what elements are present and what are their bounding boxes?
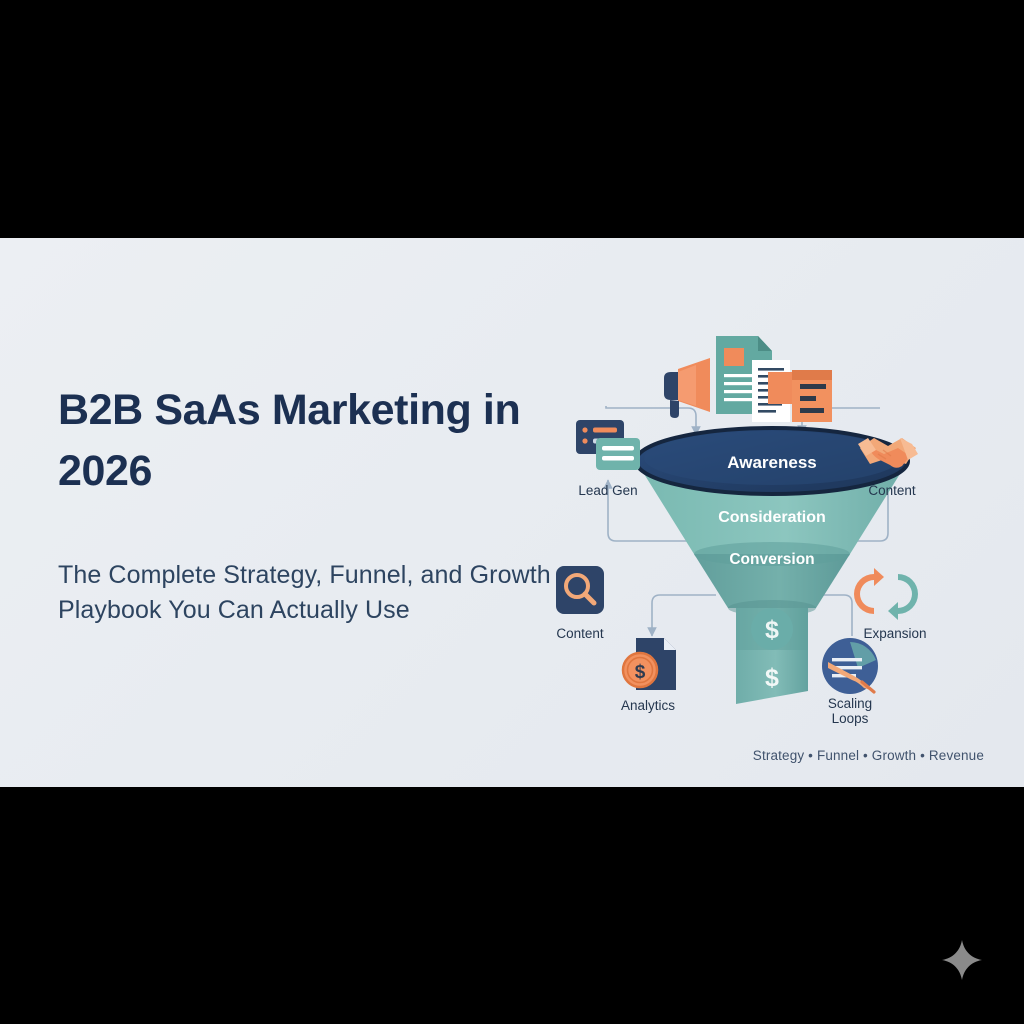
svg-text:$: $ (635, 662, 646, 683)
node-label-content-left: Content (530, 626, 630, 641)
search-icon (556, 566, 604, 614)
sparkle-icon (940, 938, 984, 982)
documents-stack-icon (716, 336, 832, 422)
svg-text:$: $ (765, 616, 779, 644)
funnel-stage-label-awareness: Awareness (727, 453, 816, 472)
node-label-analytics: Analytics (598, 698, 698, 713)
funnel-stage-label-conversion: Conversion (729, 551, 814, 568)
cards-icon (576, 420, 640, 470)
hand-writing-icon (822, 638, 878, 694)
node-label-lead-gen: Lead Gen (558, 483, 658, 498)
slide-text-block: B2B SaAs Marketing in 2026 The Complete … (58, 380, 578, 629)
revenue-coin-upper: $ (751, 608, 793, 650)
screenshot-canvas: B2B SaAs Marketing in 2026 The Complete … (0, 0, 1024, 1024)
funnel-diagram: Awareness Consideration Conversion $ $ (520, 298, 1024, 768)
node-label-scaling-loops: Scaling Loops (802, 696, 898, 726)
page-title: B2B SaAs Marketing in 2026 (58, 380, 578, 502)
slide-footer-tagline: Strategy • Funnel • Growth • Revenue (753, 748, 984, 763)
revenue-coin-lower: $ (765, 664, 779, 692)
funnel-stage-label-consideration: Consideration (718, 509, 826, 526)
node-label-content-top: Content (842, 483, 942, 498)
document-coin-icon: $ (623, 638, 676, 690)
slide-subtitle: The Complete Strategy, Funnel, and Growt… (58, 558, 578, 629)
diagram-canvas: Awareness Consideration Conversion $ $ (520, 298, 1024, 768)
presentation-slide: B2B SaAs Marketing in 2026 The Complete … (0, 238, 1024, 787)
loop-arrows-icon (854, 568, 918, 620)
node-label-expansion: Expansion (840, 626, 950, 641)
